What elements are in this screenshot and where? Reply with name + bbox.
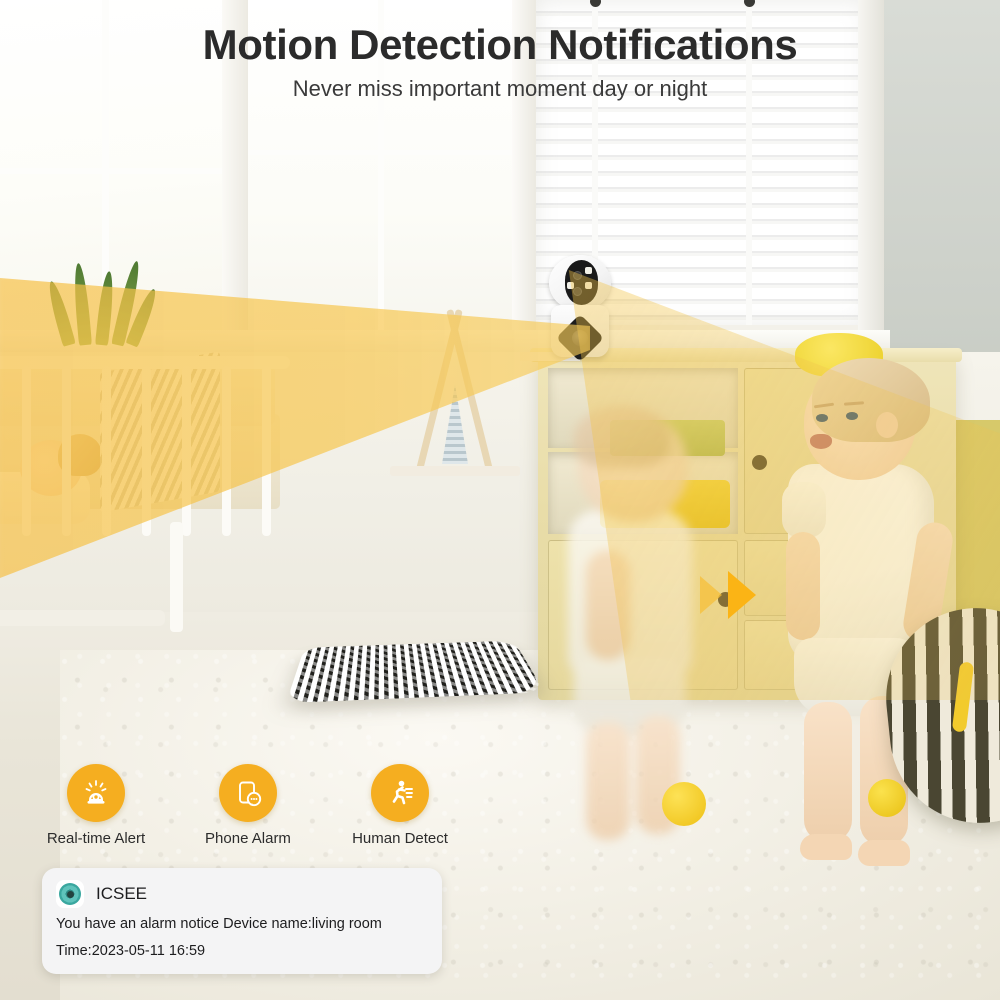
- feature-label: Real-time Alert: [47, 830, 145, 847]
- feature-label: Phone Alarm: [205, 830, 291, 847]
- feature-phone-alarm[interactable]: Phone Alarm: [190, 764, 306, 860]
- cabinet-knob-top-right[interactable]: [752, 455, 767, 470]
- feature-human-detect[interactable]: Human Detect: [342, 764, 458, 860]
- yellow-ball-center: [662, 782, 706, 826]
- toddler-hair: [812, 358, 930, 442]
- icsee-eye-icon: [56, 880, 84, 908]
- chevron-right-icon-faded: [700, 576, 722, 614]
- page-title: Motion Detection Notifications: [0, 20, 1000, 70]
- notification-time: Time:2023-05-11 16:59: [56, 942, 428, 962]
- teepee-tent-shelf: [390, 290, 520, 470]
- running-person-icon: [371, 764, 429, 822]
- feature-real-time-alert[interactable]: Real-time Alert: [38, 764, 154, 860]
- spiral-toy: [442, 384, 468, 464]
- crib-with-sleeping-baby: [0, 322, 310, 652]
- header-block: Motion Detection Notifications Never mis…: [0, 20, 1000, 102]
- camera-base-lens: [572, 330, 588, 346]
- feature-label: Human Detect: [352, 830, 448, 847]
- notification-header: ICSEE: [56, 880, 428, 908]
- phone-message-icon: [219, 764, 277, 822]
- chevron-right-icon: [728, 571, 756, 619]
- camera-ir-led-1: [585, 267, 592, 274]
- chevron-floor-cushion: [286, 641, 545, 703]
- wall-shelf: [390, 466, 520, 476]
- camera-ir-led-3: [567, 282, 574, 289]
- motion-direction-arrows: [700, 568, 790, 624]
- crib-bumper-zigzag: [100, 351, 220, 512]
- feature-list: Real-time Alert Phone Alarm: [38, 764, 458, 860]
- crib-base: [0, 610, 165, 626]
- page-subtitle: Never miss important moment day or night: [0, 76, 1000, 102]
- notification-message: You have an alarm notice Device name:liv…: [56, 915, 428, 935]
- notification-app-name: ICSEE: [96, 884, 147, 904]
- notification-card[interactable]: ICSEE You have an alarm notice Device na…: [42, 868, 442, 974]
- siren-alert-icon: [67, 764, 125, 822]
- scene-stage: Motion Detection Notifications Never mis…: [0, 0, 1000, 1000]
- yellow-ball-right: [868, 779, 906, 817]
- camera-ir-led-2: [585, 282, 592, 289]
- camera-lens-lower: [573, 287, 582, 296]
- camera-lens-upper: [573, 271, 582, 280]
- security-camera-device: [543, 255, 615, 363]
